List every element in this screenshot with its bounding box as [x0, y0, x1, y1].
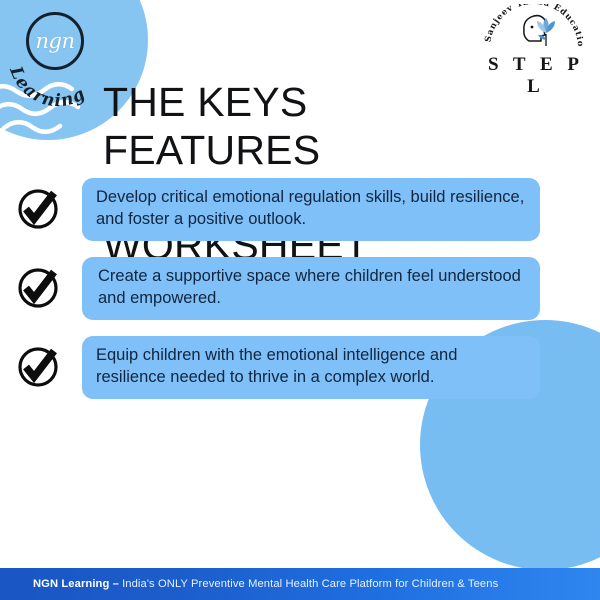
- footer-brand: NGN Learning –: [33, 578, 119, 590]
- stepl-mark: Sanjeev Tanna Education: [480, 4, 588, 56]
- feature-pill: Equip children with the emotional intell…: [82, 336, 540, 399]
- feature-pill: Develop critical emotional regulation sk…: [82, 178, 540, 241]
- feature-list: Develop critical emotional regulation sk…: [0, 178, 600, 415]
- list-item: Equip children with the emotional intell…: [0, 336, 600, 399]
- footer-tagline: India's ONLY Preventive Mental Health Ca…: [122, 578, 498, 590]
- list-item: Create a supportive space where children…: [0, 257, 600, 320]
- check-circle-icon: [14, 342, 62, 390]
- list-item: Develop critical emotional regulation sk…: [0, 178, 600, 241]
- poster-canvas: ngn Learning Sanjeev Tanna Education: [0, 0, 600, 600]
- footer-content: NGN Learning – India's ONLY Preventive M…: [0, 578, 498, 590]
- check-circle-icon: [14, 263, 62, 311]
- stepl-logo: Sanjeev Tanna Education S T E P L: [480, 4, 588, 82]
- head-lotus-icon: Sanjeev Tanna Education: [480, 4, 588, 56]
- feature-pill: Create a supportive space where children…: [82, 257, 540, 320]
- check-circle-icon: [14, 184, 62, 232]
- footer-bar: NGN Learning – India's ONLY Preventive M…: [0, 568, 600, 600]
